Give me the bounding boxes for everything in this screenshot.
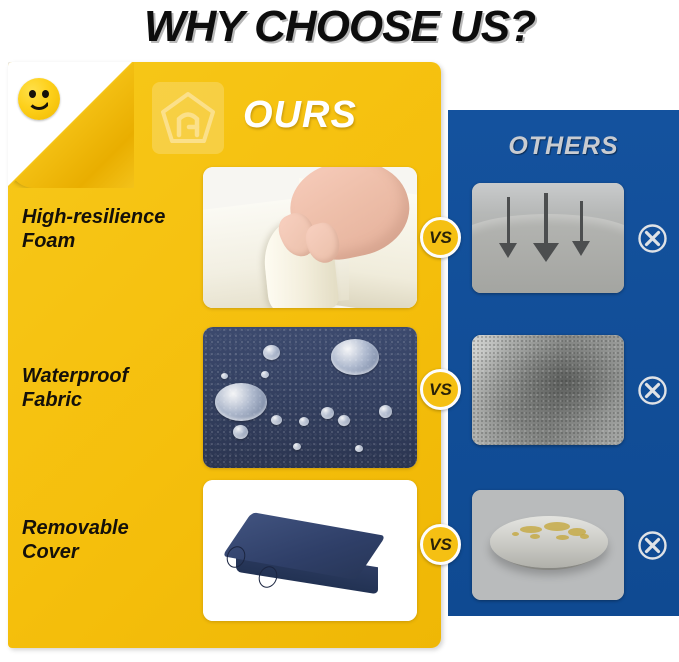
smiley-mouth <box>27 96 51 110</box>
feature-label-cover: Removable Cover <box>22 516 200 565</box>
feature-label-fabric-line1: Waterproof <box>22 365 128 387</box>
circle-x-icon-foam <box>637 223 668 254</box>
feature-label-cover-line1: Removable <box>22 517 129 539</box>
circle-x-icon-fabric <box>637 375 668 406</box>
ours-image-foam: hand-pressing-foam-photo <box>203 167 417 308</box>
page-title: WHY CHOOSE US? <box>0 2 679 52</box>
vs-badge-fabric: VS <box>420 369 461 410</box>
house-pentagon-logo-icon <box>152 82 224 154</box>
infographic-canvas: WHY CHOOSE US? OTHERS OURS High-resilien… <box>0 0 679 662</box>
feature-label-fabric: Waterproof Fabric <box>22 364 200 413</box>
others-image-fabric: wet-stained-gray-fabric-photo <box>472 335 624 445</box>
others-image-foam: sagging-foam-with-down-arrows-photo <box>472 183 624 293</box>
others-panel-title: OTHERS <box>448 132 679 161</box>
vs-badge-cover: VS <box>420 524 461 565</box>
ours-image-fabric: water-droplets-beading-on-navy-fabric-ph… <box>203 327 417 468</box>
circle-x-icon-cover <box>637 530 668 561</box>
vs-badge-foam: VS <box>420 217 461 258</box>
feature-label-cover-line2: Cover <box>22 541 79 563</box>
smiley-face-icon <box>18 78 60 120</box>
ours-panel-title: OURS <box>243 94 357 137</box>
feature-label-foam-line2: Foam <box>22 230 75 252</box>
feature-label-fabric-line2: Fabric <box>22 389 82 411</box>
feature-label-foam-line1: High-resilience <box>22 206 165 228</box>
ours-image-cover: navy-square-cushion-with-ties-photo <box>203 480 417 621</box>
others-image-cover: stained-round-gray-cushion-photo <box>472 490 624 600</box>
feature-label-foam: High-resilience Foam <box>22 205 200 254</box>
